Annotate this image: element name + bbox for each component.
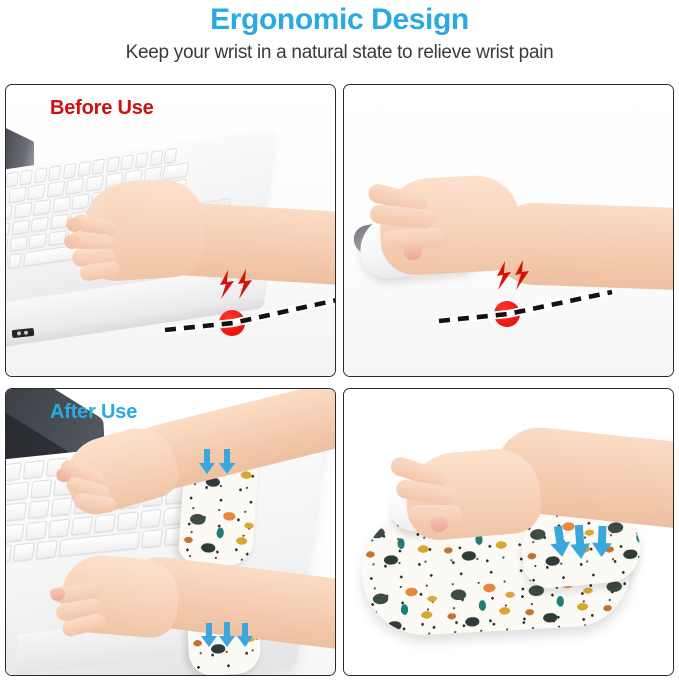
panel-after-mouse bbox=[343, 388, 674, 676]
scene-after-keyboard bbox=[6, 389, 335, 675]
down-arrow-icon bbox=[196, 447, 248, 477]
down-arrow-icon bbox=[550, 523, 628, 563]
panel-label-before-use: Before Use bbox=[50, 97, 154, 120]
panel-before-mouse bbox=[343, 84, 674, 377]
comparison-panel-grid: Before Use bbox=[5, 84, 674, 676]
scene-after-mouse bbox=[344, 389, 673, 675]
bent-dashed-line-icon bbox=[436, 283, 616, 343]
panel-label-after-use: After Use bbox=[50, 401, 137, 424]
down-arrow-icon bbox=[200, 621, 258, 651]
panel-after-keyboard: After Use bbox=[5, 388, 336, 676]
scene-before-mouse bbox=[344, 85, 673, 376]
scene-before-keyboard bbox=[6, 85, 335, 376]
page-subtitle: Keep your wrist in a natural state to re… bbox=[0, 38, 679, 67]
bent-dashed-line-icon bbox=[161, 290, 336, 350]
page-title: Ergonomic Design bbox=[0, 2, 679, 38]
header: Ergonomic Design Keep your wrist in a na… bbox=[0, 0, 679, 67]
panel-before-keyboard: Before Use bbox=[5, 84, 336, 377]
